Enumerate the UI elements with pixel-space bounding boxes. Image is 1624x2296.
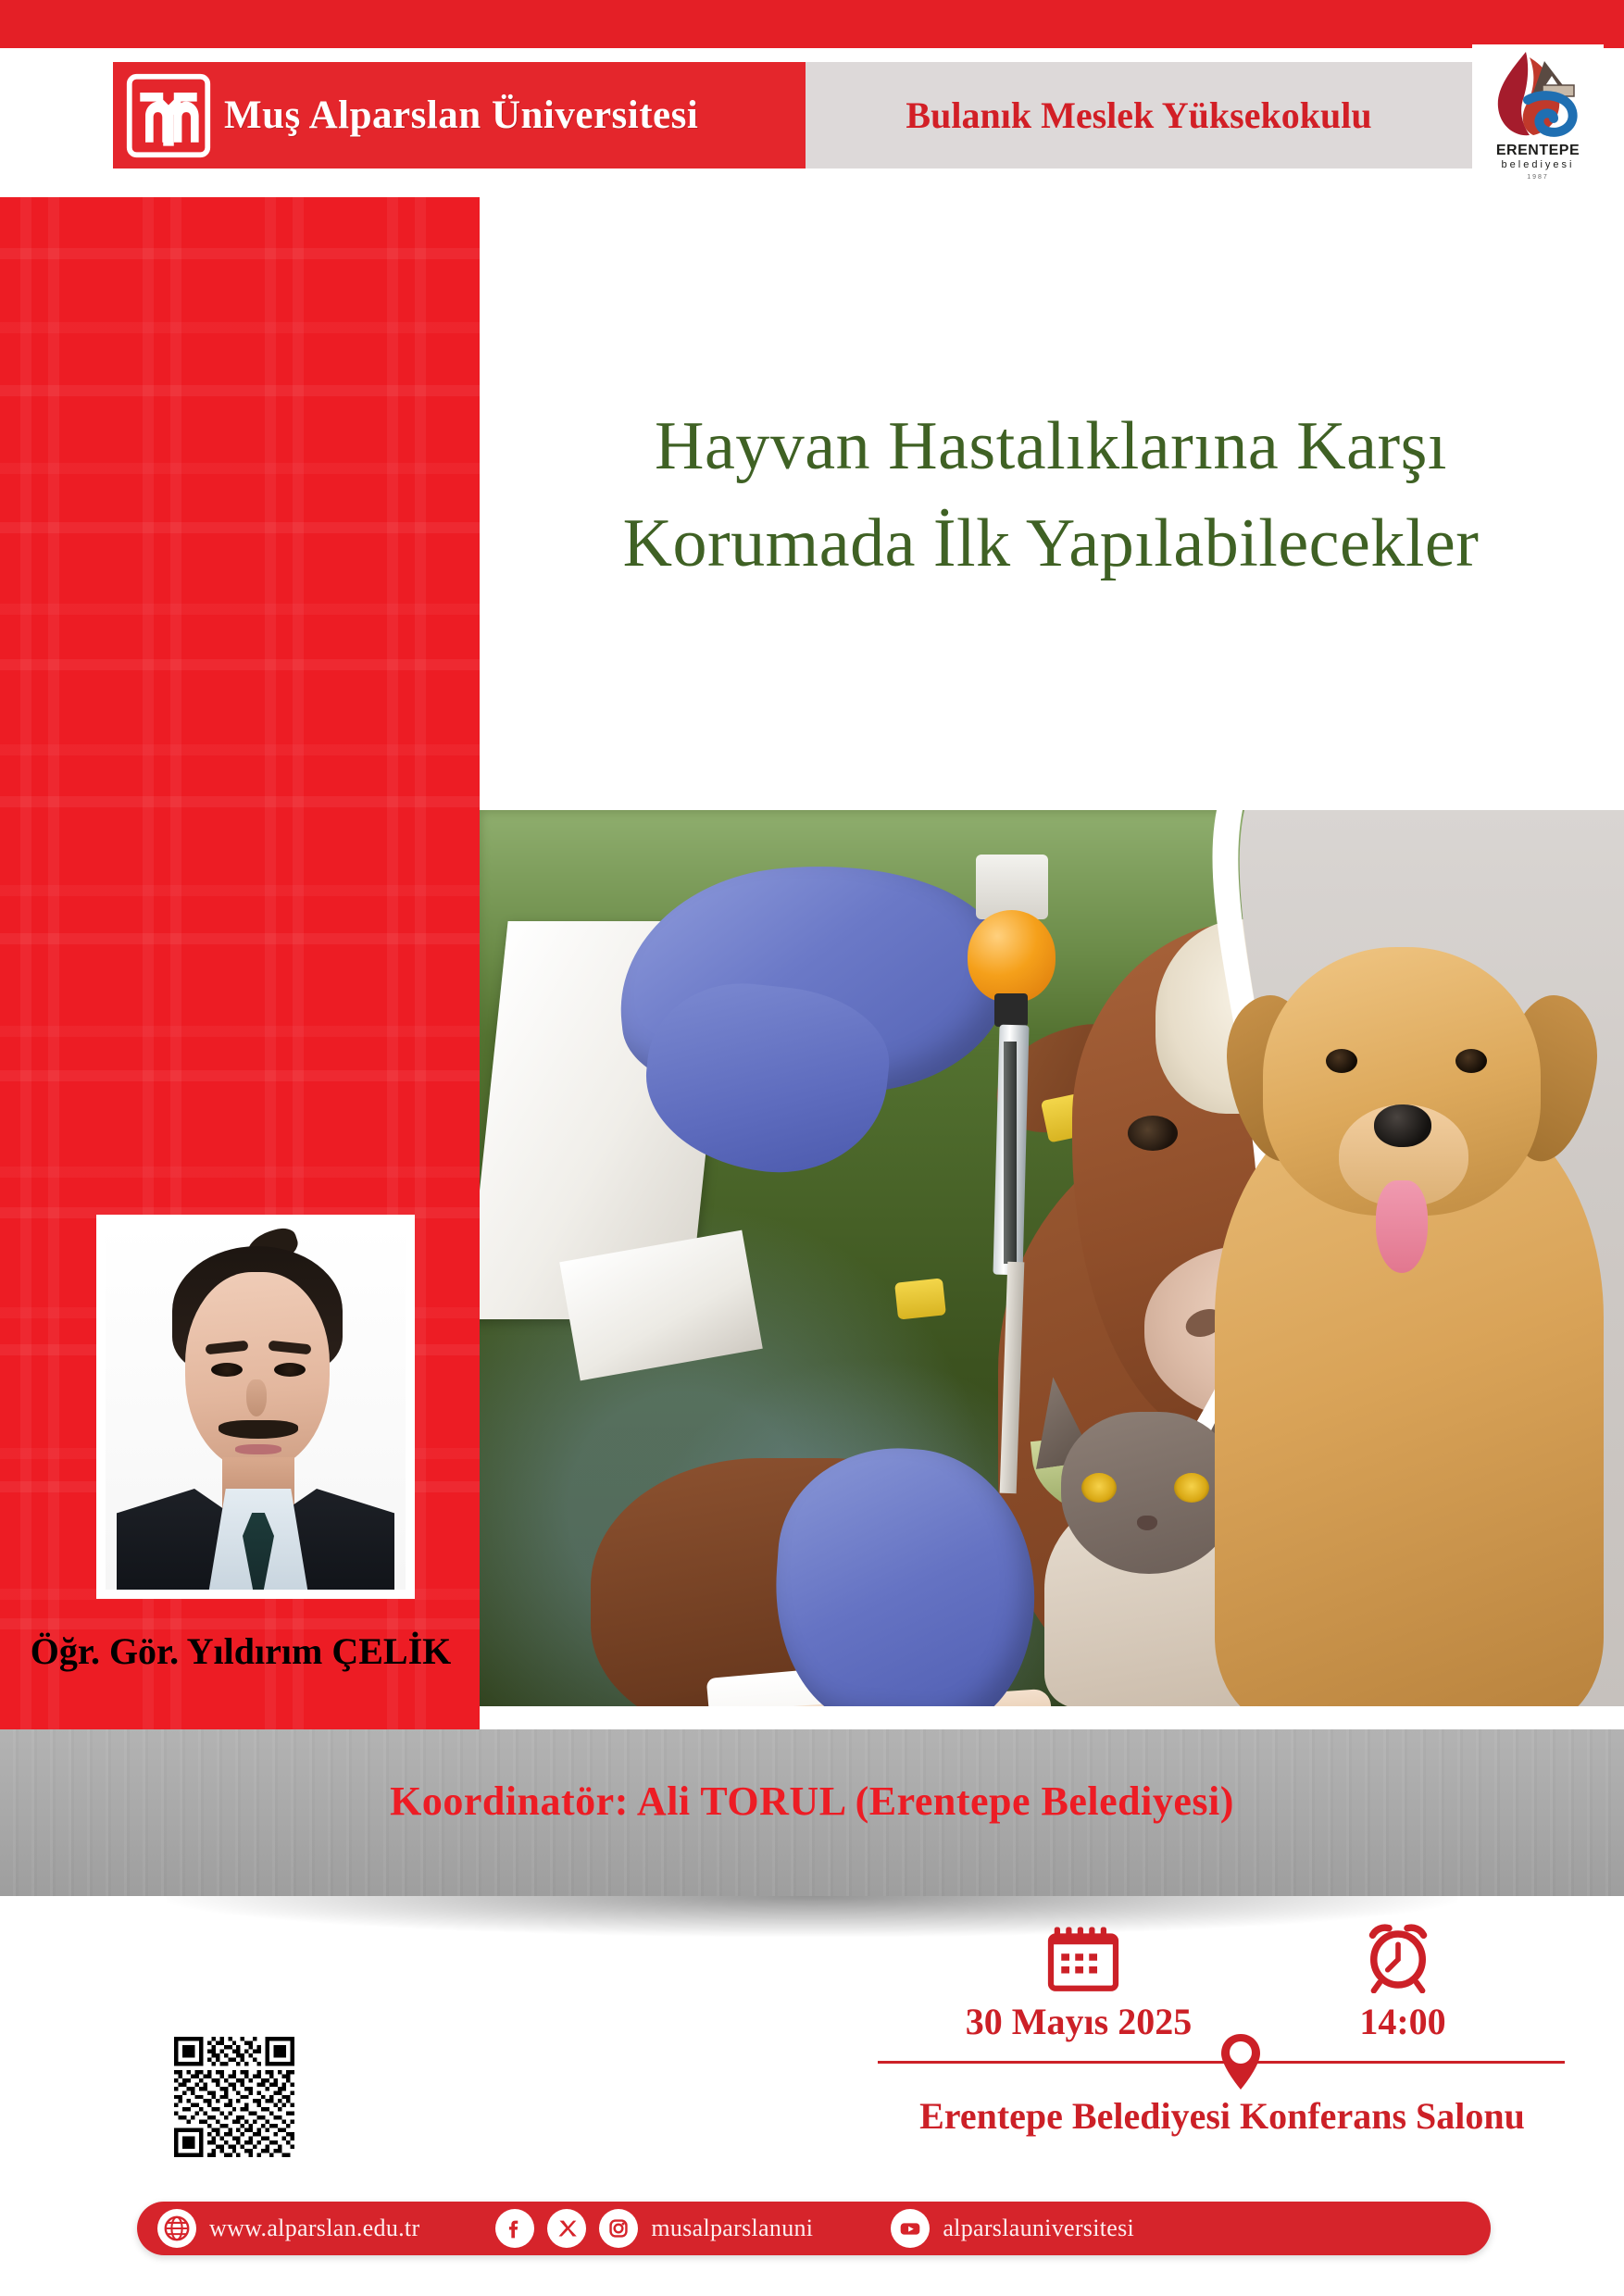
footer-instagram[interactable]: musalparslanuni <box>599 2209 813 2248</box>
page-title: Hayvan Hastalıklarına Karşı Korumada İlk… <box>500 398 1602 593</box>
speaker-nose <box>246 1379 267 1416</box>
speaker-face <box>185 1272 330 1470</box>
footer-youtube[interactable]: alparslauniversitesi <box>891 2209 1134 2248</box>
youtube-icon <box>891 2209 930 2248</box>
dog-eye-right <box>1455 1049 1487 1073</box>
speaker-eye-right <box>274 1363 306 1377</box>
speaker-eye-left <box>211 1363 243 1377</box>
speaker-name: Öğr. Gör. Yıldırım ÇELİK <box>0 1629 481 1673</box>
speaker-moustache <box>219 1420 298 1439</box>
alarm-clock-icon <box>1361 1921 1435 1993</box>
qr-code-icon[interactable] <box>174 2037 294 2157</box>
syringe-neck <box>994 993 1028 1027</box>
cow-eye-left <box>1128 1116 1178 1151</box>
footer-x-twitter[interactable] <box>547 2209 586 2248</box>
facebook-icon <box>495 2209 534 2248</box>
footer-facebook[interactable] <box>495 2209 534 2248</box>
syringe-vaccine-bulb <box>968 910 1056 1003</box>
calendar-icon <box>1046 1921 1120 1993</box>
event-date: 30 Mayıs 2025 <box>880 2000 1278 2043</box>
university-name: Muş Alparslan Üniversitesi <box>224 93 698 138</box>
school-name-block: Bulanık Meslek Yüksekokulu <box>806 62 1472 168</box>
speaker-portrait-inner <box>106 1224 406 1590</box>
footer-youtube-handle: alparslauniversitesi <box>943 2215 1134 2242</box>
erentepe-logo-subtitle: belediyesi <box>1472 159 1604 170</box>
erentepe-municipality-logo: ERENTEPE belediyesi 1987 <box>1472 44 1604 191</box>
erentepe-logo-year: 1987 <box>1472 174 1604 181</box>
dog-eye-left <box>1326 1049 1357 1073</box>
instagram-icon <box>599 2209 638 2248</box>
secondary-cow-ear-tag <box>894 1278 946 1319</box>
footer-website[interactable]: www.alparslan.edu.tr <box>157 2209 419 2248</box>
cat-eye-right <box>1174 1473 1209 1503</box>
footer-website-text: www.alparslan.edu.tr <box>209 2215 419 2242</box>
title-line-2: Korumada İlk Yapılabilecekler <box>500 495 1602 593</box>
coordinator-text: Koordinatör: Ali TORUL (Erentepe Belediy… <box>0 1778 1624 1825</box>
event-time: 14:00 <box>1241 2000 1565 2043</box>
footer-social-handle: musalparslanuni <box>651 2215 813 2242</box>
university-logo-block: Muş Alparslan Üniversitesi <box>113 62 806 168</box>
title-line-1: Hayvan Hastalıklarına Karşı <box>500 398 1602 495</box>
school-name: Bulanık Meslek Yüksekokulu <box>906 94 1371 137</box>
top-red-band <box>0 0 1624 48</box>
syringe-plunger <box>1004 1042 1017 1264</box>
x-twitter-icon <box>547 2209 586 2248</box>
dog-nose <box>1374 1104 1431 1147</box>
map-pin-icon <box>1220 2033 1261 2090</box>
cat-eye-left <box>1081 1473 1117 1503</box>
speaker-portrait <box>96 1215 415 1599</box>
dog-tongue <box>1376 1180 1428 1273</box>
footer-social-bar: www.alparslan.edu.tr musalparslanuni <box>137 2202 1491 2255</box>
event-venue: Erentepe Belediyesi Konferans Salonu <box>833 2094 1611 2138</box>
speaker-mouth <box>235 1444 281 1454</box>
animal-vaccination-photo <box>480 810 1624 1706</box>
erentepe-logo-name: ERENTEPE <box>1472 143 1604 159</box>
university-emblem-icon <box>124 71 213 160</box>
globe-icon <box>157 2209 196 2248</box>
cat-nose <box>1137 1516 1157 1530</box>
